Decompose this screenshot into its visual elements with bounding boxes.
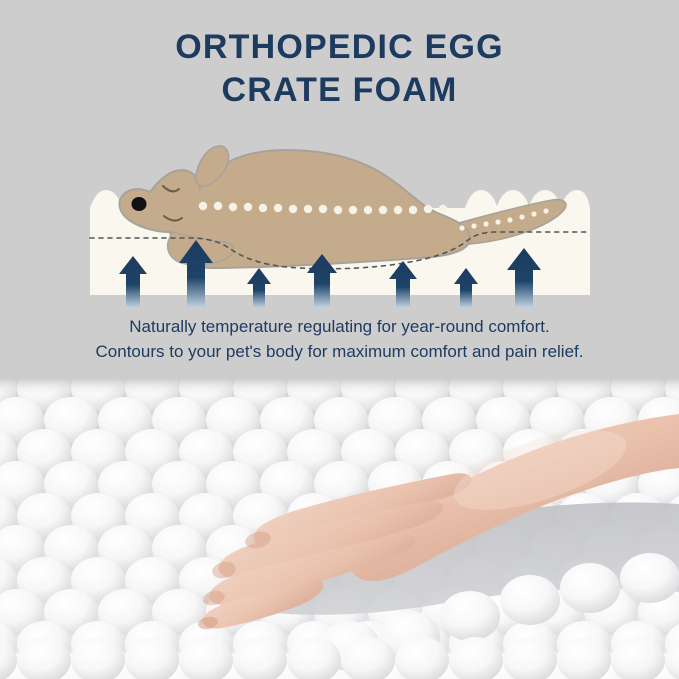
feature-description: Naturally temperature regulating for yea… [0, 314, 679, 364]
product-infographic: ORTHOPEDIC EGG CRATE FOAM [0, 0, 679, 679]
foam-texture-photo [0, 378, 679, 679]
feature-line-1: Naturally temperature regulating for yea… [0, 314, 679, 339]
page-title: ORTHOPEDIC EGG CRATE FOAM [0, 26, 679, 112]
title-line-2: CRATE FOAM [0, 69, 679, 112]
dog-on-foam-illustration [0, 128, 679, 308]
dog-nose [132, 197, 147, 211]
feature-line-2: Contours to your pet's body for maximum … [0, 339, 679, 364]
top-information-panel: ORTHOPEDIC EGG CRATE FOAM [0, 0, 679, 378]
title-line-1: ORTHOPEDIC EGG [0, 26, 679, 69]
